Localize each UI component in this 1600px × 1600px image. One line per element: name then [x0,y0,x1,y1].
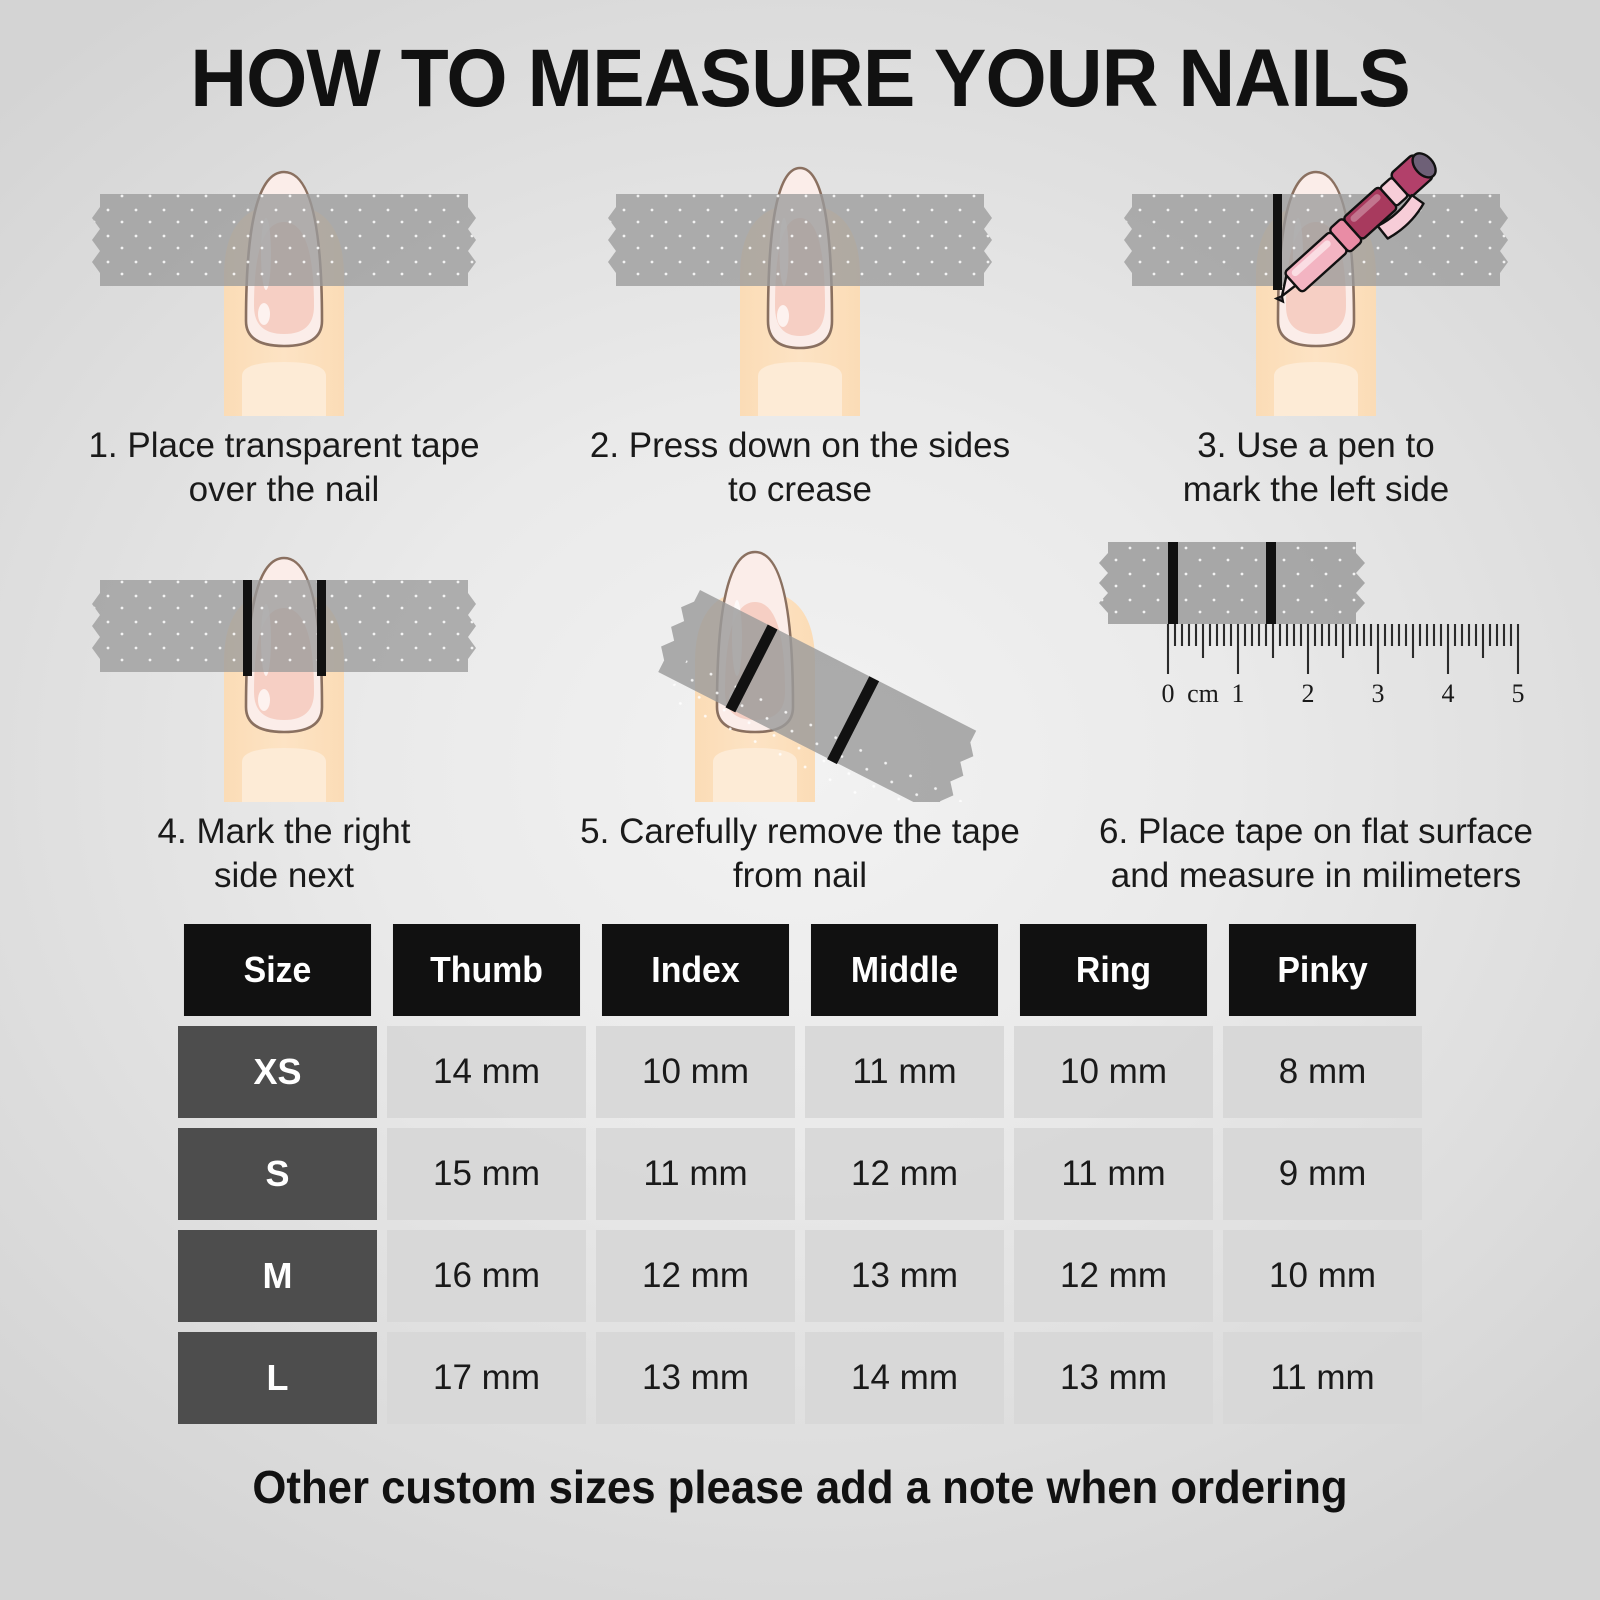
page-title: HOW TO MEASURE YOUR NAILS [32,0,1568,120]
step-4-illustration [26,512,542,802]
size-label-l: L [178,1332,377,1424]
size-chart-container: Size Thumb Index Middle Ring Pinky XS 14… [0,914,1600,1434]
step-1-illustration [26,126,542,416]
step-5: 5. Carefully remove the tape from nail [542,512,1058,898]
step-2-illustration [542,126,1058,416]
cell-m-middle: 13 mm [805,1230,1004,1322]
steps-grid: 1. Place transparent tape over the nail [0,126,1600,898]
cell-m-index: 12 mm [596,1230,795,1322]
cell-xs-thumb: 14 mm [387,1026,586,1118]
step-3-illustration [1058,126,1574,416]
step-6-caption: 6. Place tape on flat surface and measur… [1093,810,1539,898]
size-chart-table: Size Thumb Index Middle Ring Pinky XS 14… [168,914,1432,1434]
step-1: 1. Place transparent tape over the nail [26,126,542,512]
cell-xs-middle: 11 mm [805,1026,1004,1118]
step-5-illustration [542,512,1058,802]
step-5-caption: 5. Carefully remove the tape from nail [574,810,1026,898]
table-row: S 15 mm 11 mm 12 mm 11 mm 9 mm [178,1128,1422,1220]
ruler-tick-2: 2 [1302,679,1315,708]
ruler-tick-0: 0 [1162,679,1175,708]
table-row: L 17 mm 13 mm 14 mm 13 mm 11 mm [178,1332,1422,1424]
cell-xs-pinky: 8 mm [1223,1026,1422,1118]
step-4: 4. Mark the right side next [26,512,542,898]
ruler-tick-4: 4 [1442,679,1455,708]
left-mark [243,580,252,676]
size-label-xs: XS [178,1026,377,1118]
step-4-caption: 4. Mark the right side next [152,810,417,898]
step-2-caption: 2. Press down on the sides to crease [584,424,1016,512]
tape-mark-right [1266,542,1276,624]
cell-l-ring: 13 mm [1014,1332,1213,1424]
cell-m-ring: 12 mm [1014,1230,1213,1322]
column-header-ring: Ring [1020,924,1207,1016]
cell-l-pinky: 11 mm [1223,1332,1422,1424]
ruler-tick-5: 5 [1512,679,1525,708]
transparent-tape [608,194,992,286]
step-2: 2. Press down on the sides to crease [542,126,1058,512]
tape-mark-left [1168,542,1178,624]
cell-s-ring: 11 mm [1014,1128,1213,1220]
left-mark [1273,194,1282,290]
step-1-caption: 1. Place transparent tape over the nail [82,424,485,512]
table-row: XS 14 mm 10 mm 11 mm 10 mm 8 mm [178,1026,1422,1118]
peeled-tape [628,572,1026,802]
column-header-index: Index [602,924,789,1016]
cell-xs-index: 10 mm [596,1026,795,1118]
transparent-tape [92,580,476,672]
ruler-tick-3: 3 [1372,679,1385,708]
step-3-caption: 3. Use a pen to mark the left side [1177,424,1456,512]
cell-l-thumb: 17 mm [387,1332,586,1424]
size-label-s: S [178,1128,377,1220]
right-mark [317,580,326,676]
cell-xs-ring: 10 mm [1014,1026,1213,1118]
cell-l-index: 13 mm [596,1332,795,1424]
cell-s-index: 11 mm [596,1128,795,1220]
ruler-tick-1: 1 [1232,679,1245,708]
column-header-thumb: Thumb [393,924,580,1016]
cell-s-pinky: 9 mm [1223,1128,1422,1220]
table-header-row: Size Thumb Index Middle Ring Pinky [178,924,1422,1016]
step-3: 3. Use a pen to mark the left side [1058,126,1574,512]
step-6-illustration: 0 cm 1 2 3 4 5 [1058,512,1574,802]
measured-tape [1099,542,1365,624]
column-header-middle: Middle [811,924,998,1016]
size-label-m: M [178,1230,377,1322]
ruler-unit-label: cm [1187,679,1219,708]
step-6: 0 cm 1 2 3 4 5 6. Place tape on flat sur… [1058,512,1574,898]
cell-s-middle: 12 mm [805,1128,1004,1220]
table-row: M 16 mm 12 mm 13 mm 12 mm 10 mm [178,1230,1422,1322]
column-header-size: Size [184,924,371,1016]
transparent-tape [92,194,476,286]
cell-l-middle: 14 mm [805,1332,1004,1424]
column-header-pinky: Pinky [1229,924,1416,1016]
cell-m-pinky: 10 mm [1223,1230,1422,1322]
ruler: 0 cm 1 2 3 4 5 [1162,624,1525,708]
cell-s-thumb: 15 mm [387,1128,586,1220]
cell-m-thumb: 16 mm [387,1230,586,1322]
footer-note: Other custom sizes please add a note whe… [40,1460,1560,1514]
